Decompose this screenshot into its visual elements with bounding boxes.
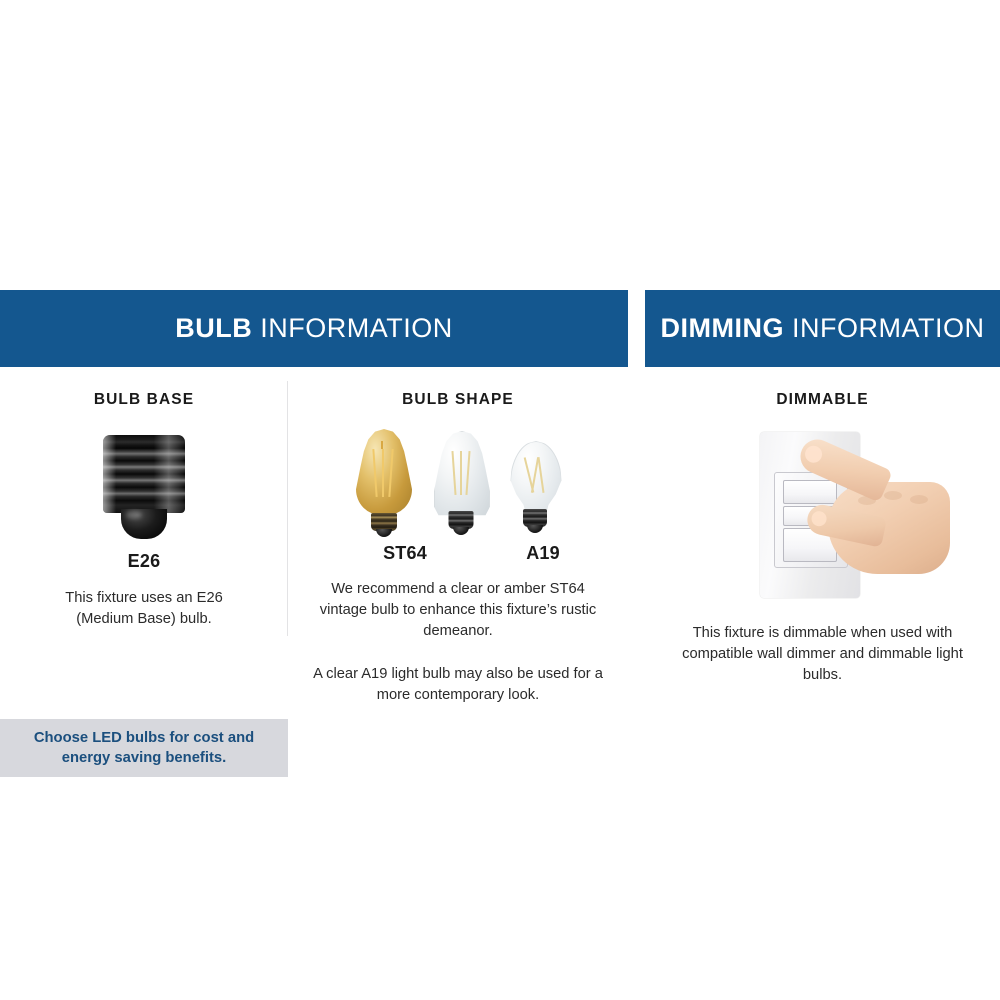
st64-clear-bulb-image <box>434 431 488 537</box>
middle-fingernail <box>810 510 828 528</box>
led-callout: Choose LED bulbs for cost and energy sav… <box>0 719 288 777</box>
bulb-shape-images <box>288 419 628 537</box>
dimming-body: This fixture is dimmable when used with … <box>673 623 973 686</box>
bulb-information-banner-bold: BULB <box>175 313 252 343</box>
bulb-information-banner-light: INFORMATION <box>260 313 452 343</box>
bulb-information-banner: BULB INFORMATION <box>0 290 628 367</box>
bulb-shape-column: BULB SHAPE <box>288 367 628 705</box>
bulb-information-panel: BULB INFORMATION BULB BASE E26 This <box>0 290 628 700</box>
bulb-base-column: BULB BASE E26 This fixture uses an E26 (… <box>0 367 288 705</box>
wall-dimmer-switch-with-hand-image <box>645 419 1000 605</box>
e26-threaded-shell <box>103 435 185 513</box>
bulb-shape-body-2: A clear A19 light bulb may also be used … <box>308 664 608 706</box>
bulb-information-body: BULB BASE E26 This fixture uses an E26 (… <box>0 367 628 700</box>
st64-amber-tip <box>376 529 392 537</box>
e26-base-graphic <box>103 435 185 541</box>
st64-amber-glass <box>356 429 412 515</box>
bulb-information-columns: BULB BASE E26 This fixture uses an E26 (… <box>0 367 628 705</box>
st64-clear-tip <box>453 527 469 535</box>
dimming-information-banner: DIMMING INFORMATION <box>645 290 1000 367</box>
dimming-information-body: DIMMABLE <box>645 391 1000 724</box>
dimmable-title: DIMMABLE <box>645 391 1000 409</box>
st64-amber-bulb-image <box>356 429 412 537</box>
a19-clear-bulb-image <box>510 441 560 537</box>
filament-2 <box>382 449 384 497</box>
st64-label: ST64 <box>350 543 460 564</box>
dimming-information-banner-light: INFORMATION <box>792 313 984 343</box>
e26-screw-base-image <box>0 425 288 541</box>
bulb-shape-title: BULB SHAPE <box>288 391 628 409</box>
product-info-sheet: BULB INFORMATION BULB BASE E26 This <box>0 0 1000 1000</box>
a19-clear-glass <box>510 441 562 517</box>
dimming-information-banner-bold: DIMMING <box>661 313 784 343</box>
index-fingernail <box>802 443 824 465</box>
dimming-information-panel: DIMMING INFORMATION DIMMABLE <box>645 290 1000 724</box>
dimmer-graphic <box>698 430 948 605</box>
a19-label: A19 <box>498 543 588 564</box>
dimming-information-banner-title: DIMMING INFORMATION <box>661 315 985 342</box>
hand-graphic <box>794 456 948 582</box>
bulb-shape-labels: ST64 A19 <box>288 543 628 567</box>
led-callout-text: Choose LED bulbs for cost and energy sav… <box>27 728 261 769</box>
filament-2 <box>460 451 462 495</box>
bulb-information-banner-title: BULB INFORMATION <box>175 315 453 342</box>
knuckle-2 <box>884 491 902 500</box>
st64-clear-glass <box>434 431 490 517</box>
bulb-base-title: BULB BASE <box>0 391 288 409</box>
a19-tip <box>527 525 543 533</box>
e26-base-tip <box>121 509 167 539</box>
bulb-base-body: This fixture uses an E26 (Medium Base) b… <box>37 588 251 630</box>
bulb-shape-body-1: We recommend a clear or amber ST64 vinta… <box>315 579 601 642</box>
filament-stem <box>381 441 383 449</box>
bulb-base-caption: E26 <box>0 551 288 572</box>
knuckle-3 <box>910 495 928 504</box>
